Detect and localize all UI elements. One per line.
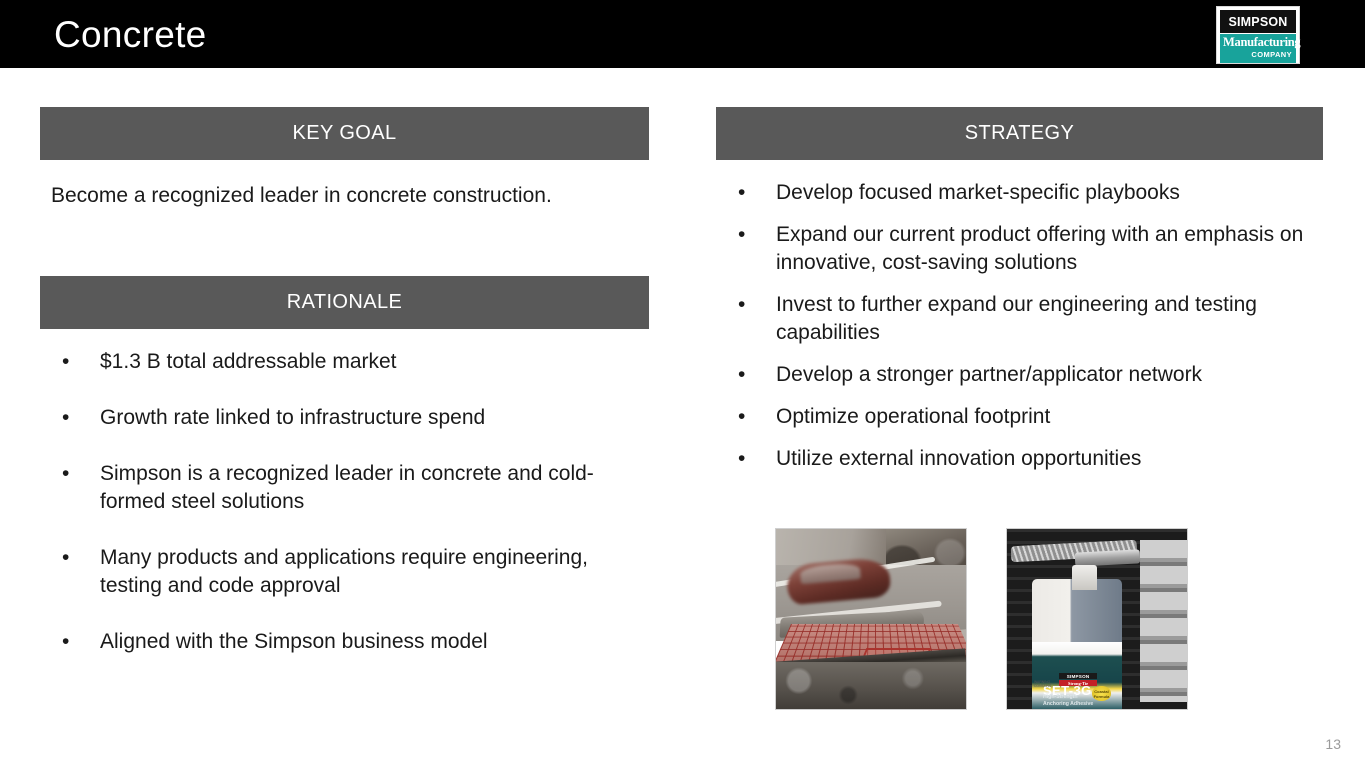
list-item-label: Develop a stronger partner/applicator ne… xyxy=(776,363,1202,386)
logo-simpson-text: SIMPSON xyxy=(1228,15,1287,29)
list-item-label: Develop focused market-specific playbook… xyxy=(776,181,1180,204)
photo-label-tagline: High-Strength Anchoring Adhesive xyxy=(1043,694,1093,708)
rationale-header: RATIONALE xyxy=(40,276,649,329)
strategy-header-label: STRATEGY xyxy=(965,122,1075,145)
list-item-label: Expand our current product offering with… xyxy=(776,223,1303,274)
key-goal-header-label: KEY GOAL xyxy=(293,122,397,145)
photo-gravel xyxy=(776,662,966,709)
photo-cartridge-nozzle xyxy=(1072,565,1097,590)
page-title: Concrete xyxy=(54,13,207,57)
simpson-manufacturing-logo: SIMPSON Manufacturing COMPANY xyxy=(1216,6,1300,64)
photo-label-side-text: WARNING CONTAINS xyxy=(1034,680,1047,689)
list-item-label: $1.3 B total addressable market xyxy=(100,350,397,373)
key-goal-body: Become a recognized leader in concrete c… xyxy=(51,179,611,213)
list-item: • Optimize operational footprint xyxy=(716,403,1316,431)
list-item-label: Utilize external innovation opportunitie… xyxy=(776,447,1141,470)
strategy-header: STRATEGY xyxy=(716,107,1323,160)
bullet-icon: • xyxy=(738,445,745,473)
bullet-icon: • xyxy=(62,404,69,432)
list-item: • $1.3 B total addressable market xyxy=(40,348,640,376)
bullet-icon: • xyxy=(62,628,69,656)
list-item-label: Many products and applications require e… xyxy=(100,546,588,597)
logo-manufacturing-block: Manufacturing COMPANY xyxy=(1220,34,1296,63)
list-item: • Expand our current product offering wi… xyxy=(716,221,1316,277)
bullet-icon: • xyxy=(738,361,745,389)
strategy-bullet-list: • Develop focused market-specific playbo… xyxy=(716,179,1316,487)
logo-simpson-block: SIMPSON xyxy=(1220,10,1296,33)
bullet-icon: • xyxy=(738,221,745,249)
bullet-icon: • xyxy=(738,179,745,207)
bullet-icon: • xyxy=(738,403,745,431)
page-number: 13 xyxy=(1325,736,1341,752)
photo-label-badge: Coastal Formula xyxy=(1092,686,1112,701)
logo-company-text: COMPANY xyxy=(1251,50,1292,59)
list-item-label: Optimize operational footprint xyxy=(776,405,1050,428)
list-item: • Utilize external innovation opportunit… xyxy=(716,445,1316,473)
rationale-header-label: RATIONALE xyxy=(287,291,402,314)
list-item: • Develop a stronger partner/applicator … xyxy=(716,361,1316,389)
bullet-icon: • xyxy=(62,348,69,376)
photo-metal-pipes xyxy=(1140,540,1187,702)
road-barrier-mesh-photo xyxy=(775,528,967,710)
set-3g-adhesive-photo: SIMPSON Strong-Tie SET-3G Coastal Formul… xyxy=(1006,528,1188,710)
bullet-icon: • xyxy=(62,544,69,572)
bullet-icon: • xyxy=(62,460,69,488)
list-item: • Aligned with the Simpson business mode… xyxy=(40,628,640,656)
list-item: • Many products and applications require… xyxy=(40,544,640,600)
key-goal-header: KEY GOAL xyxy=(40,107,649,160)
logo-manufacturing-text: Manufacturing xyxy=(1223,35,1300,50)
list-item-label: Aligned with the Simpson business model xyxy=(100,630,488,653)
rationale-bullet-list: • $1.3 B total addressable market • Grow… xyxy=(40,348,640,684)
bullet-icon: • xyxy=(738,291,745,319)
list-item: • Develop focused market-specific playbo… xyxy=(716,179,1316,207)
list-item-label: Simpson is a recognized leader in concre… xyxy=(100,462,594,513)
photo-adhesive-cartridge: SIMPSON Strong-Tie SET-3G Coastal Formul… xyxy=(1032,579,1122,709)
list-item: • Simpson is a recognized leader in conc… xyxy=(40,460,640,516)
list-item: • Invest to further expand our engineeri… xyxy=(716,291,1316,347)
list-item-label: Growth rate linked to infrastructure spe… xyxy=(100,406,485,429)
photo-cartridge-label: SIMPSON Strong-Tie SET-3G Coastal Formul… xyxy=(1032,642,1122,709)
list-item: • Growth rate linked to infrastructure s… xyxy=(40,404,640,432)
list-item-label: Invest to further expand our engineering… xyxy=(776,293,1257,344)
photo-label-simpson: SIMPSON xyxy=(1059,673,1097,679)
